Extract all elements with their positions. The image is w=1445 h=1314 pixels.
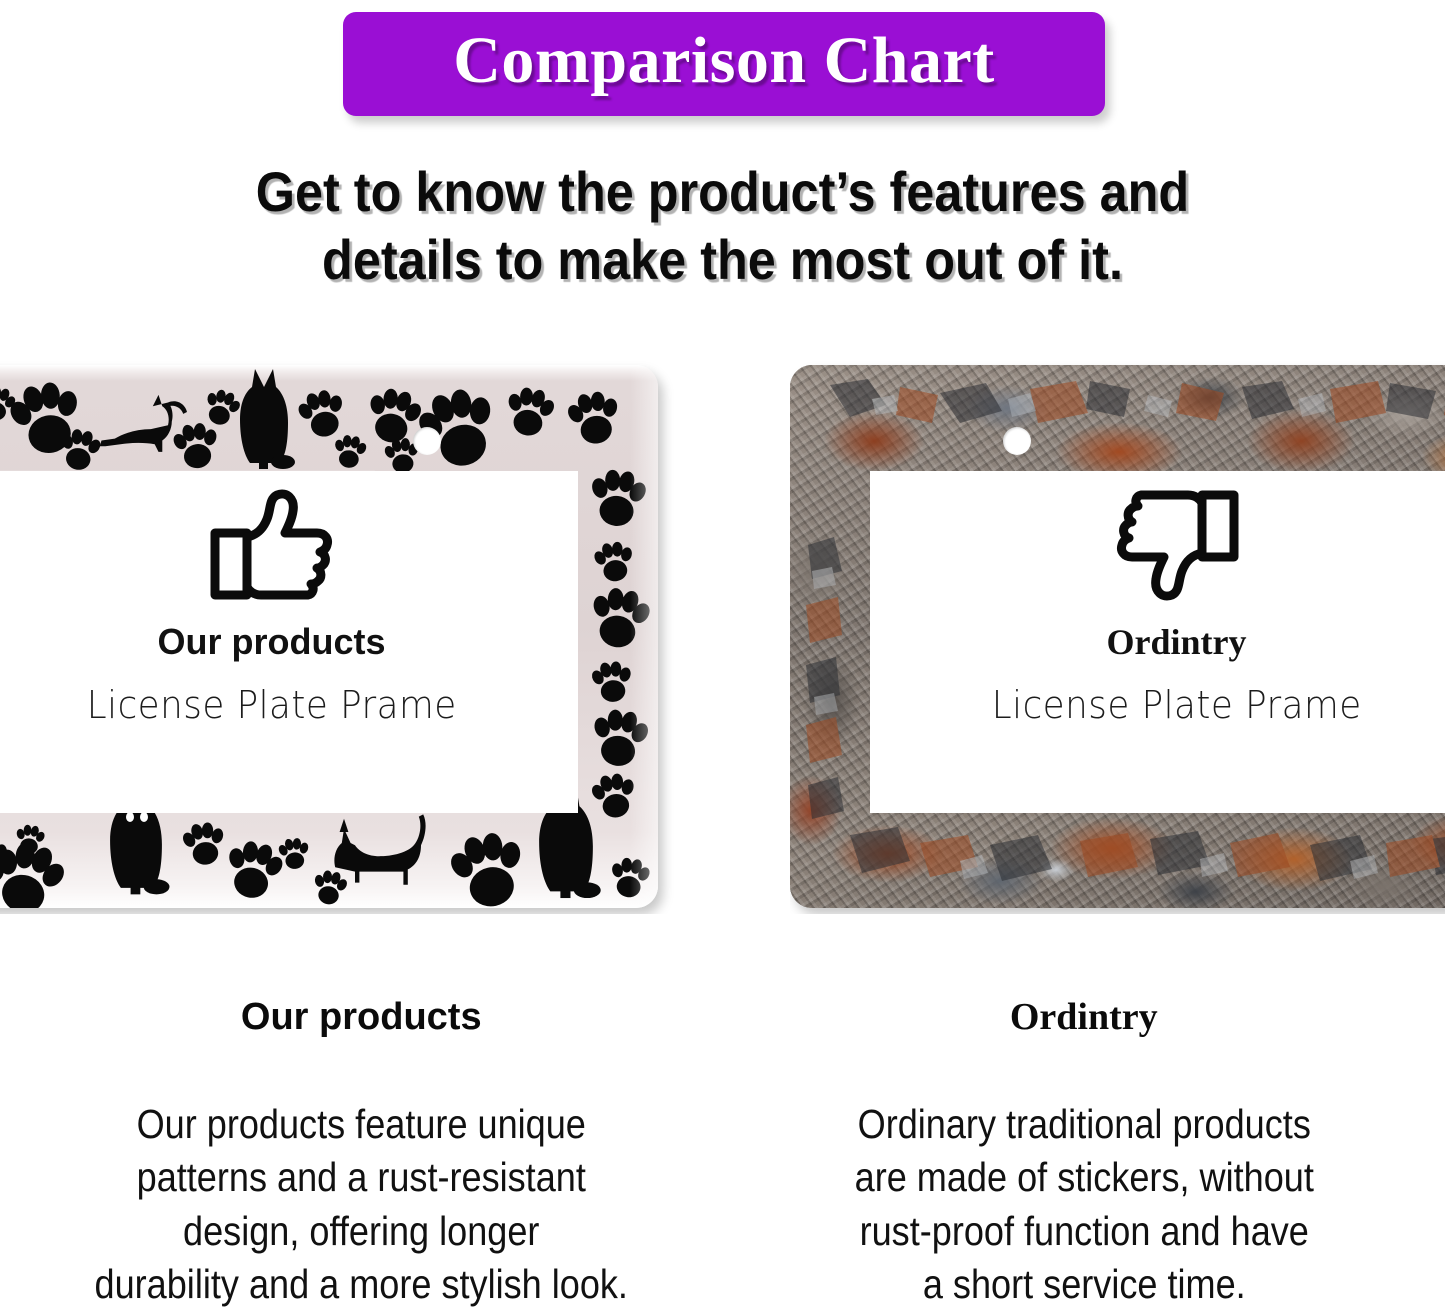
thumbs-up-icon xyxy=(209,489,335,606)
our-product-plate-caption: License Plate Prame xyxy=(87,686,457,724)
ordinary-description-heading: Ordintry xyxy=(723,998,1445,1036)
our-body-line-4: durability and a more stylish look. xyxy=(43,1258,679,1311)
ordinary-body-line-2: are made of stickers, without xyxy=(766,1151,1402,1204)
our-product-license-plate-frame: Our products License Plate Prame xyxy=(0,365,658,908)
ordinary-product-frame-container: Ordintry License Plate Prame xyxy=(790,352,1445,914)
subtitle: Get to know the product’s features and d… xyxy=(72,158,1373,295)
title-banner: Comparison Chart xyxy=(343,12,1105,116)
ordinary-license-plate-frame: Ordintry License Plate Prame xyxy=(790,365,1445,908)
our-body-line-3: design, offering longer xyxy=(43,1205,679,1258)
our-product-frame-container: Our products License Plate Prame xyxy=(0,352,700,914)
ordinary-plate-caption: License Plate Prame xyxy=(992,686,1362,724)
header-section: Comparison Chart Get to know the product… xyxy=(0,0,1445,310)
our-product-plate-window: Our products License Plate Prame xyxy=(0,471,578,813)
our-product-description-column: Our products Our products feature unique… xyxy=(0,980,723,1314)
our-product-description-body: Our products feature unique patterns and… xyxy=(43,1098,679,1311)
ordinary-body-line-4: a short service time. xyxy=(766,1258,1402,1311)
ordinary-description-column: Ordintry Ordinary traditional products a… xyxy=(723,980,1445,1314)
ordinary-description-body: Ordinary traditional products are made o… xyxy=(766,1098,1402,1311)
ordinary-brand-name: Ordintry xyxy=(1107,624,1247,660)
mounting-hole xyxy=(413,427,441,455)
our-body-line-2: patterns and a rust-resistant xyxy=(43,1151,679,1204)
ordinary-body-line-3: rust-proof function and have xyxy=(766,1205,1402,1258)
our-product-description-heading: Our products xyxy=(0,998,723,1036)
mounting-hole xyxy=(1003,427,1031,455)
subtitle-line-2: details to make the most out of it. xyxy=(72,226,1373,294)
our-body-line-1: Our products feature unique xyxy=(43,1098,679,1151)
page-title: Comparison Chart xyxy=(453,28,995,100)
our-product-brand-name: Our products xyxy=(157,624,385,660)
comparison-chart-page: Comparison Chart Get to know the product… xyxy=(0,0,1445,1314)
product-frames-section: Our products License Plate Prame xyxy=(0,352,1445,914)
ordinary-plate-window: Ordintry License Plate Prame xyxy=(870,471,1445,813)
descriptions-section: Our products Our products feature unique… xyxy=(0,980,1445,1314)
ordinary-body-line-1: Ordinary traditional products xyxy=(766,1098,1402,1151)
subtitle-line-1: Get to know the product’s features and xyxy=(72,158,1373,226)
thumbs-down-icon xyxy=(1114,489,1240,606)
